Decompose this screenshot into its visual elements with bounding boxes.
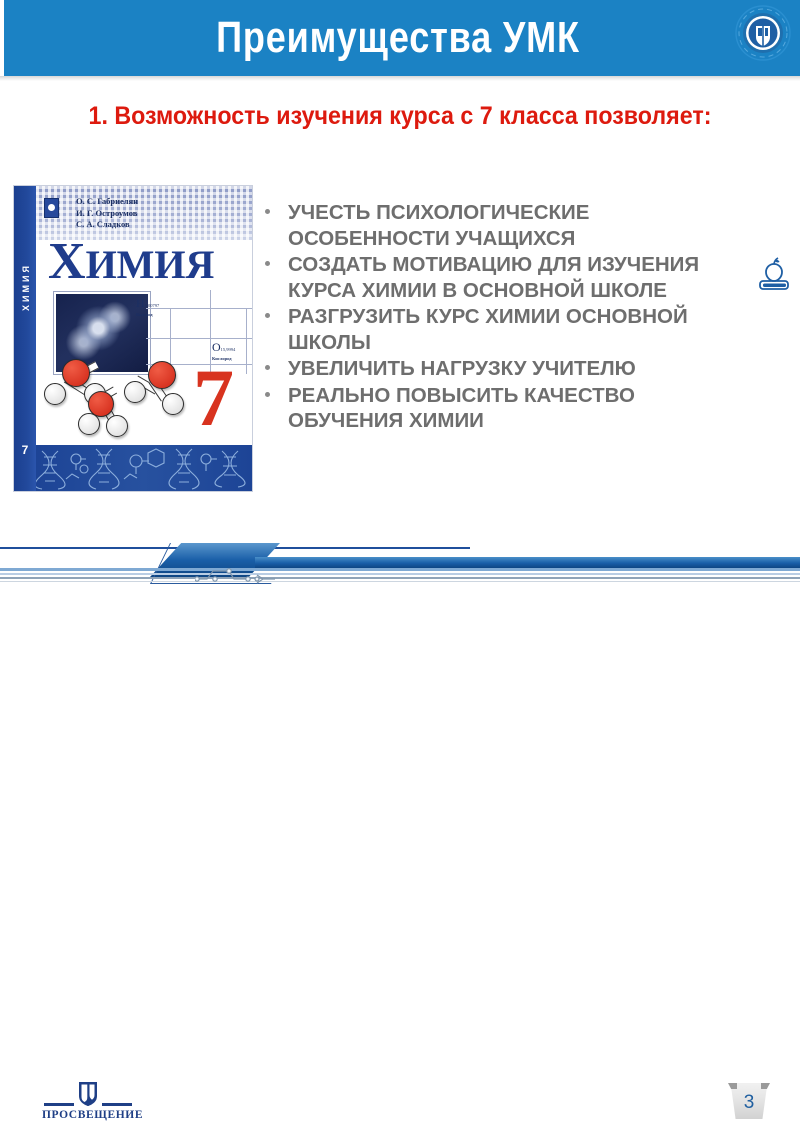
footer-bar-primary <box>255 557 800 568</box>
list-item: РАЗГРУЗИТЬ КУРС ХИМИИ ОСНОВНОЙ ШКОЛЫ <box>262 304 742 355</box>
footer-circuit-motif <box>195 563 285 585</box>
hydrogen-atom <box>78 413 100 435</box>
book-header-pattern <box>36 186 252 240</box>
logo-rule-right <box>102 1103 132 1106</box>
logo-rule-left <box>44 1103 74 1106</box>
bullet-dot-icon <box>265 209 270 214</box>
bullet-list: УЧЕСТЬ ПСИХОЛОГИЧЕСКИЕ ОСОБЕННОСТИ УЧАЩИ… <box>262 200 742 435</box>
element-name: Водород <box>136 312 159 317</box>
slide-number: 3 <box>728 1083 770 1119</box>
bullet-dot-icon <box>265 392 270 397</box>
book-authors: О. С. Габриелян И. Г. Остроумов С. А. Сл… <box>76 196 138 231</box>
book-spine-number: 7 <box>18 443 32 457</box>
grid-line <box>246 308 247 374</box>
publisher-seal-icon <box>734 4 792 62</box>
book-title: ХИМИЯ <box>48 240 248 287</box>
shield-logo-icon <box>78 1081 98 1107</box>
footer-bar-secondary <box>0 568 800 571</box>
publisher-name: ПРОСВЕЩЕНИЕ <box>42 1109 136 1121</box>
list-item-label: РЕАЛЬНО ПОВЫСИТЬ КАЧЕСТВО ОБУЧЕНИЯ ХИМИИ <box>288 384 635 433</box>
grid-line <box>146 338 252 339</box>
oxygen-atom <box>148 361 176 389</box>
footer-bar-quinary <box>0 581 800 582</box>
slide-number-plaque: 3 <box>728 1083 770 1119</box>
list-item: РЕАЛЬНО ПОВЫСИТЬ КАЧЕСТВО ОБУЧЕНИЯ ХИМИИ <box>262 383 742 434</box>
book-author-line: С. А. Сладков <box>76 219 138 231</box>
list-item-label: РАЗГРУЗИТЬ КУРС ХИМИИ ОСНОВНОЙ ШКОЛЫ <box>288 305 688 354</box>
hydrogen-atom <box>44 383 66 405</box>
element-symbol: H <box>136 296 145 310</box>
grid-line <box>170 308 210 309</box>
bullet-dot-icon <box>265 365 270 370</box>
slide-footer: ПРОСВЕЩЕНИЕ 3 <box>0 535 800 600</box>
book-spine-title: ХИМИЯ <box>21 241 31 333</box>
bullet-dot-icon <box>265 261 270 266</box>
list-item-label: УЧЕСТЬ ПСИХОЛОГИЧЕСКИЕ ОСОБЕННОСТИ УЧАЩИ… <box>288 201 589 250</box>
oxygen-atom <box>62 359 90 387</box>
list-item-label: УВЕЛИЧИТЬ НАГРУЗКУ УЧИТЕЛЮ <box>288 357 636 380</box>
list-item: УЧЕСТЬ ПСИХОЛОГИЧЕСКИЕ ОСОБЕННОСТИ УЧАЩИ… <box>262 200 742 251</box>
book-title-rest: ИМИЯ <box>86 242 215 287</box>
element-cell-hydrogen: H1,00797 Водород <box>136 294 159 317</box>
header-underline <box>0 76 800 81</box>
slide-root: Преимущества УМК 1. Возможность изучения… <box>0 0 800 600</box>
hydrogen-atom <box>106 415 128 437</box>
page-title: Преимущества УМК <box>72 2 725 74</box>
book-author-line: И. Г. Остроумов <box>76 208 138 220</box>
book-dna-pattern <box>36 445 252 491</box>
book-grade-number: 7 <box>193 357 234 439</box>
molecule-models-graphic <box>40 353 210 439</box>
element-mass: 1,00797 <box>145 303 160 308</box>
book-author-line: О. С. Габриелян <box>76 196 138 208</box>
bullet-dot-icon <box>265 313 270 318</box>
slide-subtitle: 1. Возможность изучения курса с 7 класса… <box>70 100 730 132</box>
list-item: УВЕЛИЧИТЬ НАГРУЗКУ УЧИТЕЛЮ <box>262 356 742 382</box>
list-item-label: СОЗДАТЬ МОТИВАЦИЮ ДЛЯ ИЗУЧЕНИЯ КУРСА ХИМ… <box>288 253 699 302</box>
book-publisher-badge-icon <box>44 198 59 218</box>
footer-bar-quaternary <box>0 577 800 579</box>
hydrogen-atom <box>124 381 146 403</box>
textbook-cover-image: ХИМИЯ 7 О. С. Габриелян И. Г. Остроумов … <box>14 186 252 491</box>
list-item: СОЗДАТЬ МОТИВАЦИЮ ДЛЯ ИЗУЧЕНИЯ КУРСА ХИМ… <box>262 252 742 303</box>
book-title-initial: Х <box>48 233 86 290</box>
apple-on-book-icon <box>757 255 791 291</box>
footer-bar-tertiary <box>0 573 800 575</box>
hydrogen-atom <box>162 393 184 415</box>
